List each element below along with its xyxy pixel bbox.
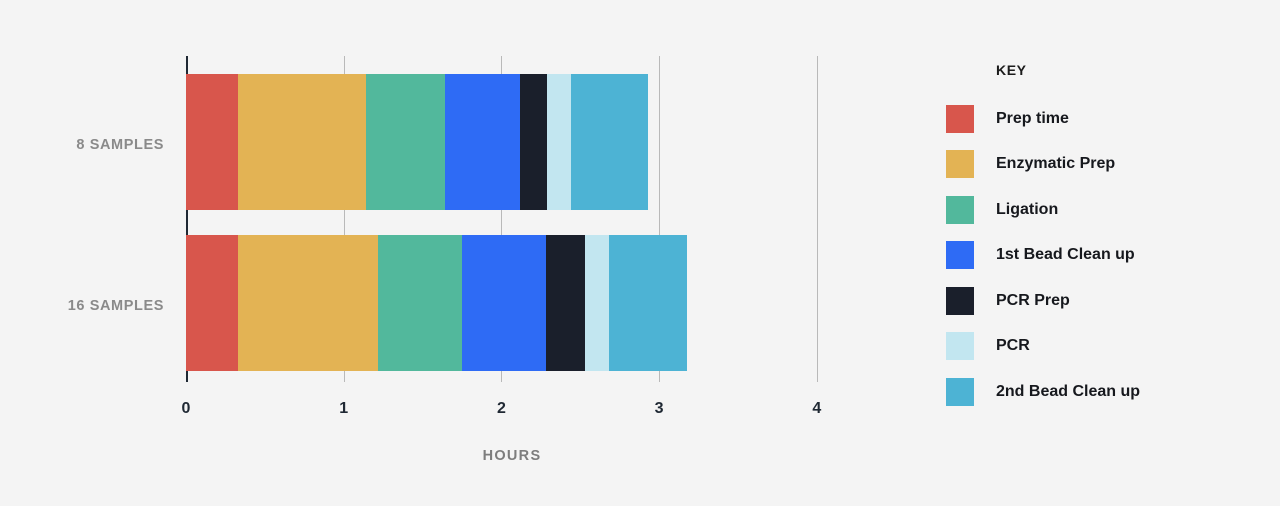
legend-items: Prep timeEnzymatic PrepLigation1st Bead … [946, 96, 1246, 415]
plot-area: 01234 8 SAMPLES 16 SAMPLES [0, 0, 900, 506]
legend-label: 1st Bead Clean up [996, 246, 1135, 264]
bar-segment-pcr-prep [546, 235, 585, 371]
legend-swatch-icon [946, 150, 974, 178]
legend-title: KEY [996, 62, 1246, 78]
bar-segment-ligation [378, 235, 462, 371]
legend-item-pcr-prep[interactable]: PCR Prep [946, 278, 1246, 324]
category-label-16-samples: 16 SAMPLES [0, 298, 186, 314]
bar-segment-pcr-prep [520, 74, 547, 210]
legend-label: Ligation [996, 201, 1058, 219]
legend-item-pcr[interactable]: PCR [946, 324, 1246, 370]
gridline-4 [817, 56, 818, 382]
bar-segment-1st-bead-clean-up [445, 74, 521, 210]
bar-segment-prep-time [186, 235, 238, 371]
x-tick-label-0: 0 [171, 400, 201, 418]
legend-swatch-icon [946, 332, 974, 360]
bar-segment-ligation [366, 74, 445, 210]
legend-swatch-icon [946, 287, 974, 315]
x-tick-label-1: 1 [329, 400, 359, 418]
bar-8-samples [186, 74, 648, 210]
legend-item-1st-bead-clean-up[interactable]: 1st Bead Clean up [946, 233, 1246, 279]
legend-item-ligation[interactable]: Ligation [946, 187, 1246, 233]
legend-label: 2nd Bead Clean up [996, 383, 1140, 401]
legend-swatch-icon [946, 378, 974, 406]
legend-swatch-icon [946, 196, 974, 224]
bar-16-samples [186, 235, 687, 371]
legend: KEY Prep timeEnzymatic PrepLigation1st B… [946, 62, 1246, 415]
category-label-8-samples: 8 SAMPLES [0, 137, 186, 153]
x-axis-title: HOURS [0, 448, 1024, 464]
legend-label: Prep time [996, 110, 1069, 128]
bar-segment-pcr [547, 74, 571, 210]
legend-label: PCR Prep [996, 292, 1070, 310]
legend-item-enzymatic-prep[interactable]: Enzymatic Prep [946, 142, 1246, 188]
chart-container: 01234 8 SAMPLES 16 SAMPLES HOURS KEY Pre… [0, 0, 1280, 506]
bar-segment-prep-time [186, 74, 238, 210]
x-tick-label-4: 4 [802, 400, 832, 418]
bar-segment-2nd-bead-clean-up [571, 74, 648, 210]
legend-item-2nd-bead-clean-up[interactable]: 2nd Bead Clean up [946, 369, 1246, 415]
x-tick-label-2: 2 [486, 400, 516, 418]
x-tick-label-3: 3 [644, 400, 674, 418]
bar-segment-2nd-bead-clean-up [609, 235, 688, 371]
legend-swatch-icon [946, 241, 974, 269]
bar-segment-1st-bead-clean-up [462, 235, 546, 371]
legend-label: Enzymatic Prep [996, 155, 1115, 173]
legend-label: PCR [996, 337, 1030, 355]
legend-item-prep-time[interactable]: Prep time [946, 96, 1246, 142]
bar-segment-pcr [585, 235, 609, 371]
bar-segment-enzymatic-prep [238, 74, 366, 210]
bar-segment-enzymatic-prep [238, 235, 378, 371]
legend-swatch-icon [946, 105, 974, 133]
